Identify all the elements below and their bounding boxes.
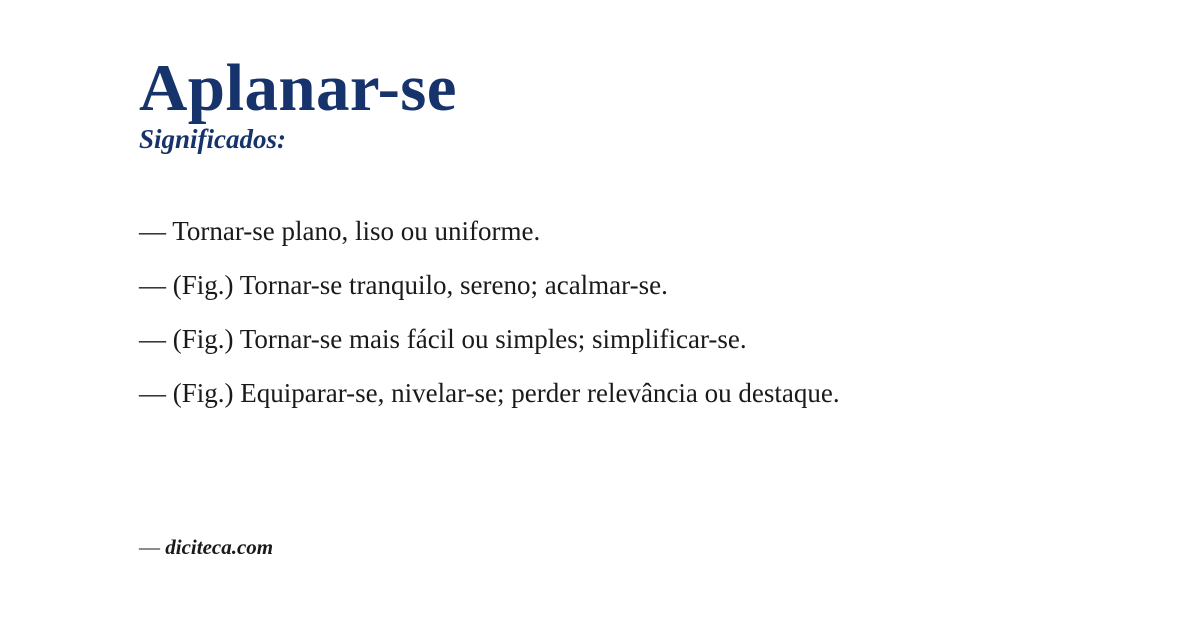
definition-text: (Fig.) Tornar-se mais fácil ou simples; … xyxy=(173,324,747,354)
definitions-list: — Tornar-se plano, liso ou uniforme. — (… xyxy=(139,214,1044,410)
source-name: diciteca.com xyxy=(165,535,273,559)
definition-card: Aplanar-se Significados: — Tornar-se pla… xyxy=(0,0,1200,628)
em-dash-bullet-icon: — xyxy=(139,216,172,246)
definition-text: (Fig.) Equiparar-se, nivelar-se; perder … xyxy=(173,378,840,408)
em-dash-bullet-icon: — xyxy=(139,324,173,354)
em-dash-bullet-icon: — xyxy=(139,378,173,408)
list-item: — (Fig.) Tornar-se tranquilo, sereno; ac… xyxy=(139,268,1044,302)
source-attribution: — diciteca.com xyxy=(139,533,273,561)
card-header: Aplanar-se Significados: xyxy=(139,52,1139,156)
list-item: — (Fig.) Equiparar-se, nivelar-se; perde… xyxy=(139,376,1044,410)
definition-text: (Fig.) Tornar-se tranquilo, sereno; acal… xyxy=(173,270,668,300)
meanings-label: Significados: xyxy=(139,122,1139,156)
page-title: Aplanar-se xyxy=(139,52,1139,124)
em-dash-bullet-icon: — xyxy=(139,270,173,300)
en-dash-icon: — xyxy=(139,535,165,559)
list-item: — Tornar-se plano, liso ou uniforme. xyxy=(139,214,1044,248)
card-content: Aplanar-se Significados: — Tornar-se pla… xyxy=(139,52,1139,410)
definition-text: Tornar-se plano, liso ou uniforme. xyxy=(172,216,540,246)
list-item: — (Fig.) Tornar-se mais fácil ou simples… xyxy=(139,322,1044,356)
